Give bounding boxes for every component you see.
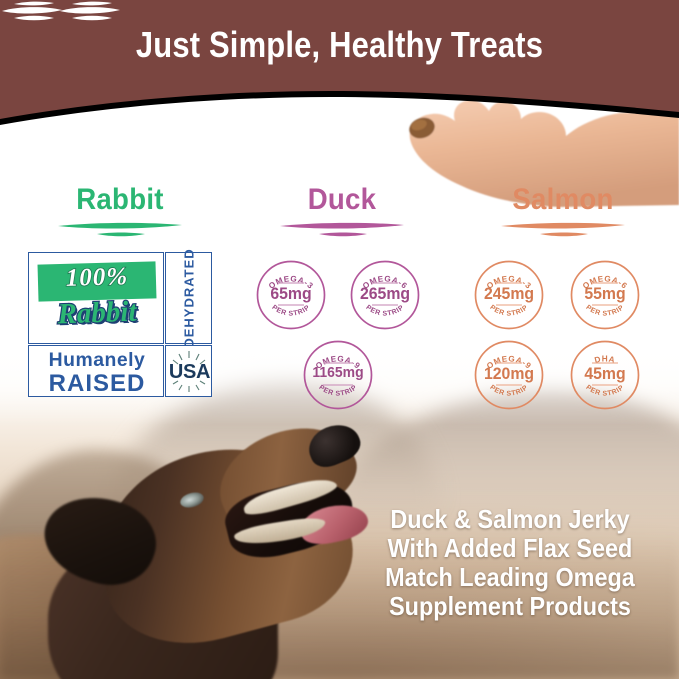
badge-dehydrated-label: DEHYDRATED [181,248,196,347]
marketing-copy: Duck & Salmon Jerky With Added Flax Seed… [375,505,645,621]
badge-box-usa: USA [165,345,212,397]
svg-text:PER STRIP: PER STRIP [488,384,529,398]
marketing-line-4: Supplement Products [375,592,645,621]
nutrient-value: 45mg [571,365,640,382]
nutrient-circle: DHA PER STRIP 45mg [568,338,642,412]
svg-text:PER STRIP: PER STRIP [584,304,625,318]
badge-raised-label: RAISED [29,370,165,398]
page-title: Just Simple, Healthy Treats [48,24,632,66]
column-duck: Duck OMEGA-3 PER STRIP [244,185,440,420]
badge-box-dehydrated: DEHYDRATED [165,252,212,344]
svg-text:PER STRIP: PER STRIP [584,384,625,398]
nutrient-value: 55mg [571,285,640,302]
header-banner: Just Simple, Healthy Treats [0,0,679,150]
dog-photo [20,414,380,679]
svg-text:PER STRIP: PER STRIP [364,304,405,318]
column-rabbit: Rabbit 100% Rabbit DEHYDRATED Humanely R… [14,185,226,397]
nutrient-circle: OMEGA-9 PER STRIP 1165mg [301,338,375,412]
badge-humanely-label: Humanely [28,350,167,372]
nutrient-unit: PER STRIP [584,304,625,318]
badge-box-main: 100% Rabbit [28,252,164,344]
badge-protein-name: Rabbit [28,295,165,333]
title-underline-salmon [500,222,626,238]
product-infographic: Just Simple, Healthy Treats Rabbit 100% … [0,0,679,679]
nutrient-circles-duck: OMEGA-3 PER STRIP 65mg [244,250,440,420]
nutrient-circle: OMEGA-6 PER STRIP 55mg [568,258,642,332]
nutrient-circle: OMEGA-3 PER STRIP 245mg [472,258,546,332]
nutrient-unit: PER STRIP [317,384,358,398]
nutrient-unit: PER STRIP [488,384,529,398]
protein-columns: Rabbit 100% Rabbit DEHYDRATED Humanely R… [0,185,679,435]
nutrient-circle: OMEGA-3 PER STRIP 65mg [254,258,328,332]
rabbit-badge-group: 100% Rabbit DEHYDRATED Humanely RAISED [28,252,212,397]
nutrient-value: 120mg [475,365,544,382]
marketing-line-1: Duck & Salmon Jerky [375,505,645,534]
badge-percent: 100% [29,262,166,294]
column-salmon: Salmon OMEGA-3 PER STRIP [458,185,668,420]
nutrient-circle: OMEGA-6 PER STRIP 265mg [348,258,422,332]
svg-text:PER STRIP: PER STRIP [317,384,358,398]
column-title-duck: Duck [252,185,432,215]
nutrient-unit: PER STRIP [584,384,625,398]
marketing-line-3: Match Leading Omega [375,563,645,592]
right-flourish-icon [0,0,66,24]
nutrient-circles-salmon: OMEGA-3 PER STRIP 245mg [458,250,668,420]
nutrient-unit: PER STRIP [488,304,529,318]
column-title-salmon: Salmon [466,185,659,215]
nutrient-unit: PER STRIP [364,304,405,318]
badge-box-humanely-raised: Humanely RAISED [28,345,164,397]
nutrient-value: 1165mg [304,365,373,380]
badge-usa-label: USA [166,361,213,384]
title-underline-rabbit [57,222,183,238]
marketing-line-2: With Added Flax Seed [375,534,645,563]
nutrient-value: 245mg [475,285,544,302]
nutrient-circle: OMEGA-9 PER STRIP 120mg [472,338,546,412]
column-title-rabbit: Rabbit [22,185,217,215]
title-underline-duck [279,222,405,238]
nutrient-unit: PER STRIP [270,304,311,318]
svg-text:PER STRIP: PER STRIP [488,304,529,318]
nutrient-value: 265mg [351,285,420,302]
left-flourish-icon [58,0,124,24]
svg-text:PER STRIP: PER STRIP [270,304,311,318]
nutrient-value: 65mg [257,285,326,302]
